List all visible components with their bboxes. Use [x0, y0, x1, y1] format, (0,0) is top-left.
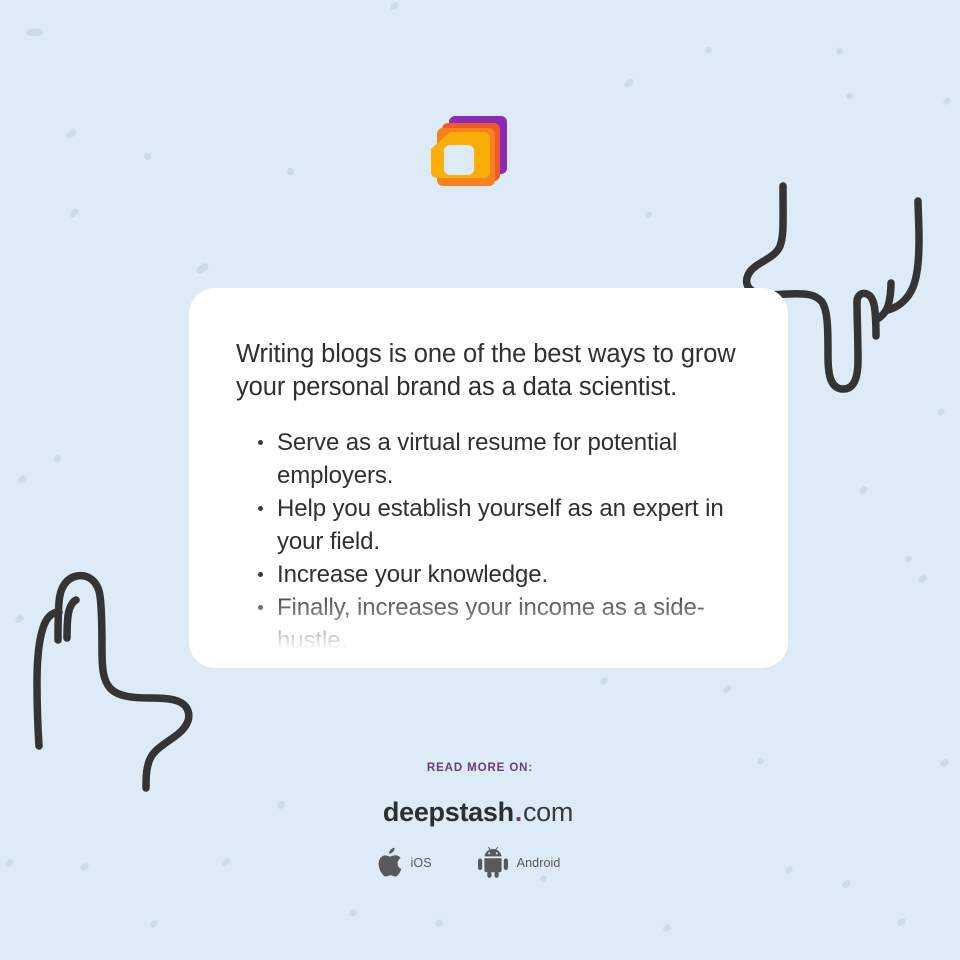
idea-card: Writing blogs is one of the best ways to… [189, 288, 788, 668]
store-badges: iOS Android [0, 847, 948, 878]
wordmark-dot: . [514, 797, 523, 827]
confetti-fleck [623, 77, 635, 88]
idea-card-content: Writing blogs is one of the best ways to… [189, 288, 788, 657]
confetti-fleck [17, 474, 28, 484]
confetti-fleck [195, 262, 210, 275]
wordmark-tld: com [523, 797, 573, 827]
deepstash-logo [428, 104, 520, 196]
list-item: Help you establish yourself as an expert… [258, 492, 744, 558]
confetti-fleck [835, 46, 844, 55]
confetti-fleck [917, 574, 928, 584]
confetti-fleck [14, 614, 25, 624]
confetti-fleck [704, 45, 713, 54]
list-item: Serve as a virtual resume for potential … [258, 426, 744, 492]
deepstash-wordmark[interactable]: deepstash.com [0, 797, 958, 827]
confetti-fleck [942, 96, 952, 106]
confetti-fleck [149, 919, 159, 929]
confetti-fleck [287, 168, 294, 175]
social-card-canvas: Writing blogs is one of the best ways to… [0, 0, 960, 960]
confetti-fleck [722, 684, 733, 694]
confetti-fleck [841, 879, 852, 889]
android-icon [478, 847, 508, 878]
confetti-fleck [434, 918, 444, 928]
read-more-label: READ MORE ON: [0, 762, 960, 774]
confetti-fleck [858, 485, 869, 495]
ios-badge[interactable]: iOS [376, 847, 432, 878]
ios-badge-label: iOS [411, 856, 432, 870]
footer: READ MORE ON: deepstash.com iOS [0, 762, 960, 878]
confetti-fleck [936, 407, 946, 417]
confetti-fleck [348, 908, 358, 918]
list-item: Increase your knowledge. [258, 558, 744, 591]
confetti-fleck [389, 1, 400, 11]
idea-bullet-list: Serve as a virtual resume for potential … [236, 426, 744, 657]
confetti-fleck [27, 29, 43, 36]
idea-title: Writing blogs is one of the best ways to… [236, 338, 744, 404]
confetti-fleck [644, 210, 653, 219]
android-badge[interactable]: Android [478, 847, 561, 878]
confetti-fleck [65, 128, 77, 140]
confetti-fleck [599, 676, 609, 686]
confetti-fleck [54, 455, 61, 462]
confetti-fleck [68, 207, 80, 218]
confetti-fleck [904, 554, 913, 563]
confetti-fleck [845, 91, 854, 100]
confetti-fleck [896, 917, 907, 927]
confetti-fleck [662, 923, 672, 933]
wordmark-name: deepstash [383, 797, 514, 827]
apple-icon [376, 847, 402, 878]
list-item: Finally, increases your income as a side… [258, 591, 744, 657]
confetti-fleck [144, 153, 151, 160]
android-badge-label: Android [517, 856, 561, 870]
